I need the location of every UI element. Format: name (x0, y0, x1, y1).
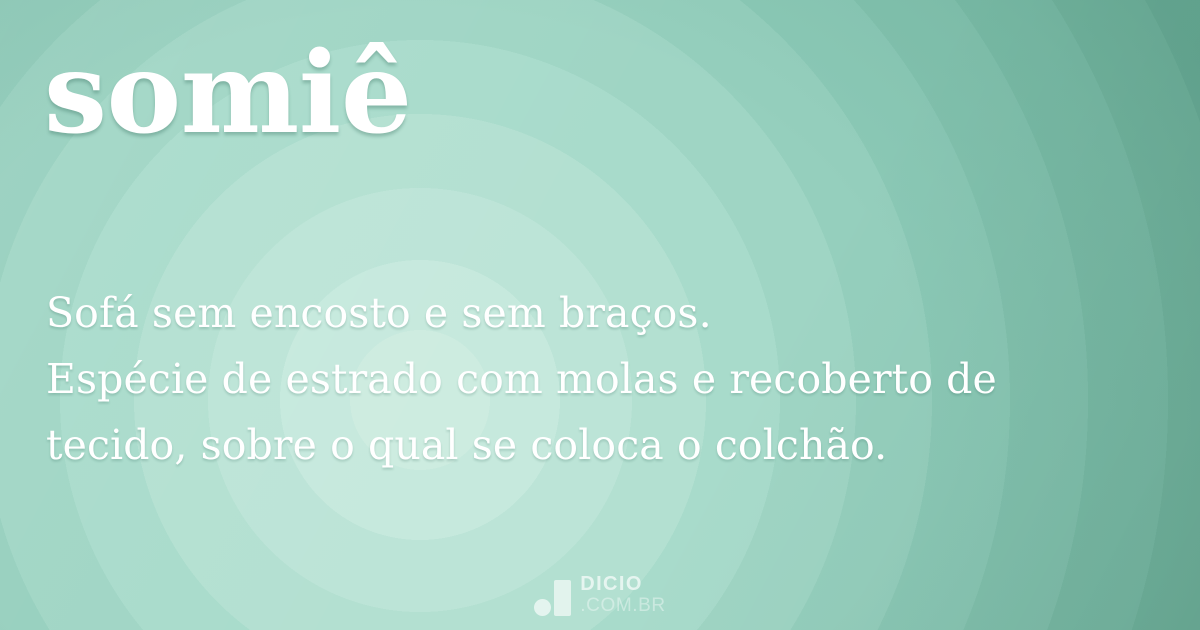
dicio-logo-inner: DICIO .COM.BR (534, 574, 665, 616)
word-title: somiê (44, 28, 412, 160)
definition-block: Sofá sem encosto e sem braços. Espécie d… (46, 280, 1136, 478)
circle-icon (534, 599, 551, 616)
dicio-logo: DICIO .COM.BR (0, 574, 1200, 616)
dicio-logo-mark-icon (534, 580, 571, 616)
definition-line: Sofá sem encosto e sem braços. (46, 280, 1136, 346)
definition-line: Espécie de estrado com molas e recoberto… (46, 346, 1136, 412)
dicio-logo-name: DICIO (580, 574, 665, 594)
dicio-logo-text: DICIO .COM.BR (580, 574, 665, 616)
dicio-logo-domain: .COM.BR (580, 596, 665, 615)
share-card: somiê Sofá sem encosto e sem braços. Esp… (0, 0, 1200, 630)
bar-icon (554, 580, 571, 616)
definition-line: tecido, sobre o qual se coloca o colchão… (46, 412, 1136, 478)
